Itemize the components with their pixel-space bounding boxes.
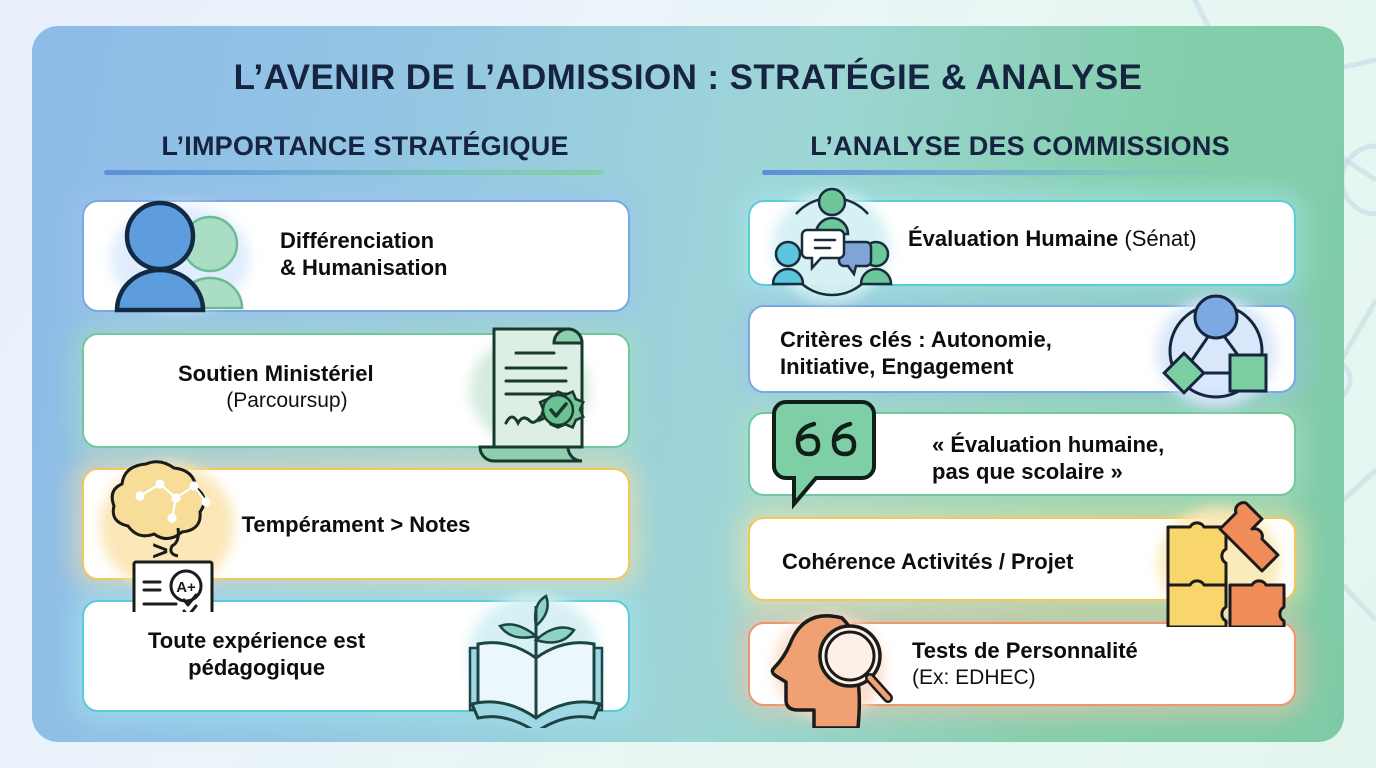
card-differenciation-humanisation[interactable]: Différenciation & Humanisation bbox=[82, 200, 630, 312]
card-evaluation-humaine[interactable]: Évaluation Humaine (Sénat) bbox=[748, 200, 1296, 286]
card-line-1: Cohérence Activités / Projet bbox=[782, 549, 1073, 576]
card-line-2: Initiative, Engagement bbox=[780, 354, 1052, 381]
card-criteres-cles[interactable]: Critères clés : Autonomie, Initiative, E… bbox=[748, 305, 1296, 393]
card-experience-pedagogique[interactable]: Toute expérience est pédagogique bbox=[82, 600, 630, 712]
right-column-heading: L’ANALYSE DES COMMISSIONS bbox=[715, 131, 1325, 162]
card-citation-evaluation-humaine[interactable]: « Évaluation humaine, pas que scolaire » bbox=[748, 412, 1296, 496]
quote-bubble-icon bbox=[766, 394, 896, 518]
card-line-1: Différenciation bbox=[280, 228, 447, 255]
card-soutien-ministeriel[interactable]: Soutien Ministériel (Parcoursup) bbox=[82, 333, 630, 448]
card-line-2: pédagogique bbox=[148, 655, 365, 682]
left-heading-underline bbox=[104, 170, 604, 175]
card-tests-personnalite[interactable]: Tests de Personnalité (Ex: EDHEC) bbox=[748, 622, 1296, 706]
card-line-1: Critères clés : Autonomie, bbox=[780, 327, 1052, 354]
discussion-group-icon bbox=[762, 180, 902, 310]
puzzle-pieces-icon bbox=[1150, 493, 1290, 627]
card-line-1-main: Évaluation Humaine bbox=[908, 226, 1118, 251]
card-line-1: « Évaluation humaine, bbox=[932, 432, 1164, 459]
certificate-document-icon bbox=[454, 313, 614, 463]
card-coherence-activites-projet[interactable]: Cohérence Activités / Projet bbox=[748, 517, 1296, 601]
card-line-2: & Humanisation bbox=[280, 255, 447, 282]
brain-over-grades-icon: > A+ bbox=[94, 442, 264, 612]
card-line-2: (Ex: EDHEC) bbox=[912, 665, 1138, 691]
card-temperament-notes[interactable]: > A+ Tempérament > Notes bbox=[82, 468, 630, 580]
card-line-1: Tests de Personnalité bbox=[912, 638, 1138, 665]
two-people-icon bbox=[102, 196, 262, 320]
page-title: L’AVENIR DE L’ADMISSION : STRATÉGIE & AN… bbox=[0, 58, 1376, 98]
criteria-network-icon bbox=[1146, 285, 1286, 415]
left-column-heading: L’IMPORTANCE STRATÉGIQUE bbox=[60, 131, 670, 162]
card-line-1: Toute expérience est bbox=[148, 628, 365, 655]
head-magnifier-icon bbox=[762, 604, 902, 728]
card-line-1: Soutien Ministériel bbox=[178, 361, 374, 388]
svg-text:A+: A+ bbox=[176, 579, 196, 596]
card-line-1: Évaluation Humaine (Sénat) bbox=[908, 226, 1197, 253]
card-line-2: (Parcoursup) bbox=[178, 388, 374, 414]
card-line-2: pas que scolaire » bbox=[932, 459, 1164, 486]
book-sprout-icon bbox=[456, 578, 616, 728]
card-line-1-suffix: (Sénat) bbox=[1124, 226, 1196, 251]
right-heading-underline bbox=[762, 170, 1274, 175]
